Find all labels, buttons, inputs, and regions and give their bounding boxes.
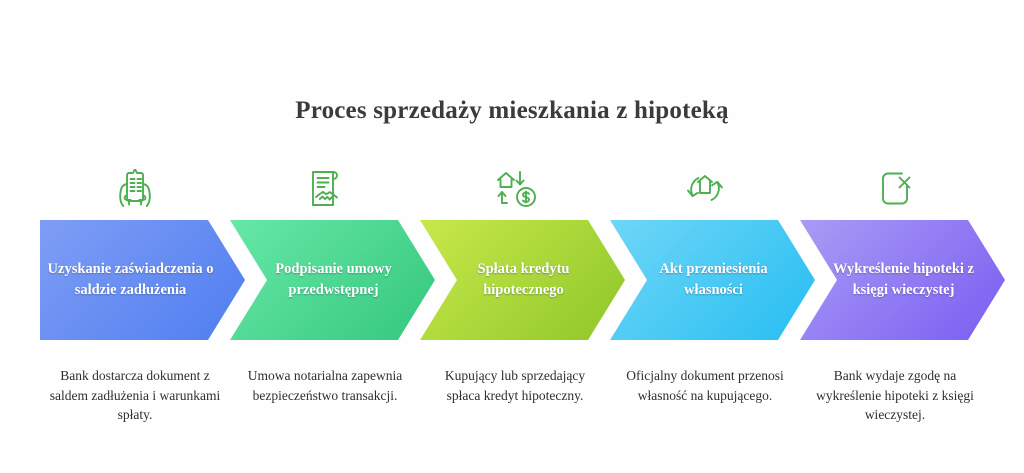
step-caption-1: Bank dostarcza dokument z saldem zadłuże… [40, 366, 230, 456]
process-step-5[interactable]: Wykreślenie hipoteki z księgi wieczystej [800, 220, 1005, 340]
step-icon-1 [40, 163, 230, 215]
step-icon-2 [230, 163, 420, 215]
step-caption-2: Umowa notarialna zapewnia bezpieczeństwo… [230, 366, 420, 456]
house-money-exchange-icon [486, 163, 544, 215]
hands-holding-document-icon [107, 164, 163, 214]
process-step-4[interactable]: Akt przeniesienia własności [610, 220, 815, 340]
step-icon-3 [420, 163, 610, 215]
page-title: Proces sprzedaży mieszkania z hipoteką [0, 97, 1024, 125]
caption-row: Bank dostarcza dokument z saldem zadłuże… [40, 366, 990, 456]
step-icon-4 [610, 163, 800, 215]
process-step-1-label: Uzyskanie zaświadczenia o saldzie zadłuż… [40, 259, 245, 300]
process-step-3-label: Spłata kredytu hipotecznego [420, 259, 625, 300]
square-cross-out-icon [867, 164, 923, 214]
process-step-3[interactable]: Spłata kredytu hipotecznego [420, 220, 625, 340]
process-step-5-label: Wykreślenie hipoteki z księgi wieczystej [800, 259, 1005, 300]
process-step-2[interactable]: Podpisanie umowy przedwstępnej [230, 220, 435, 340]
process-step-chevrons: Uzyskanie zaświadczenia o saldzie zadłuż… [40, 220, 990, 340]
process-step-4-label: Akt przeniesienia własności [610, 259, 815, 300]
infographic-canvas: Proces sprzedaży mieszkania z hipoteką [0, 0, 1024, 473]
contract-handshake-icon [297, 163, 353, 215]
process-step-1[interactable]: Uzyskanie zaświadczenia o saldzie zadłuż… [40, 220, 245, 340]
process-step-2-label: Podpisanie umowy przedwstępnej [230, 259, 435, 300]
step-caption-5: Bank wydaje zgodę na wykreślenie hipotek… [800, 366, 990, 456]
step-icon-5 [800, 163, 990, 215]
step-caption-3: Kupujący lub sprzedający spłaca kredyt h… [420, 366, 610, 456]
house-transfer-arrows-icon [676, 165, 734, 213]
icon-row [40, 163, 990, 215]
step-caption-4: Oficjalny dokument przenosi własność na … [610, 366, 800, 456]
